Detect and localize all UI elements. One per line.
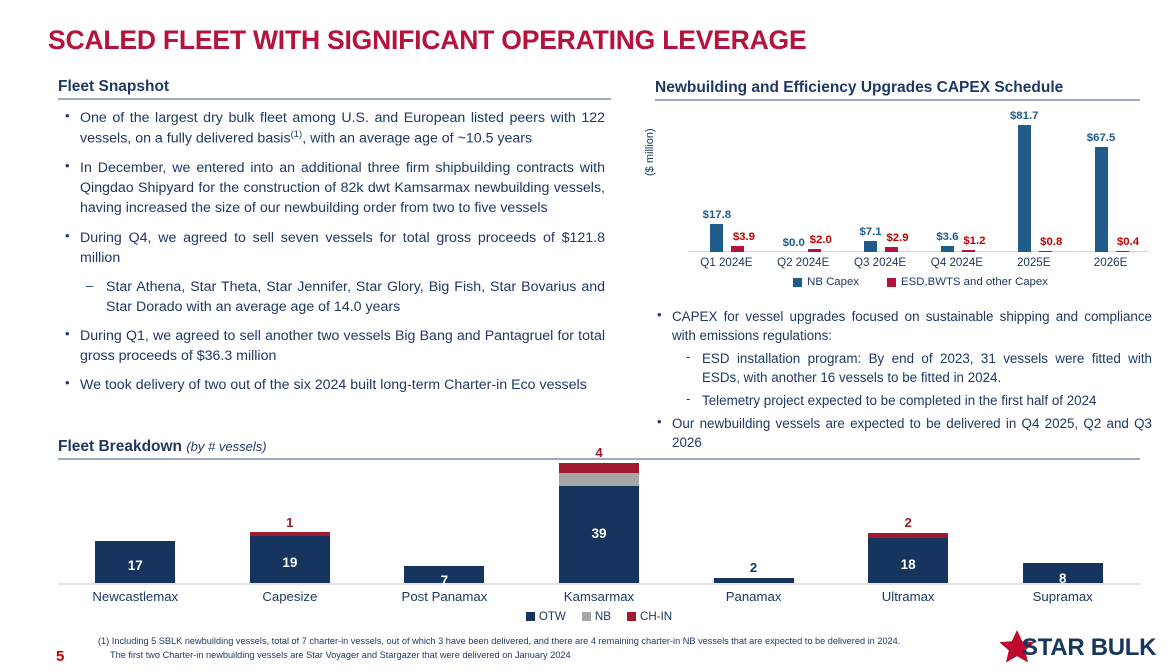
- capex-bar-group: $0.0$2.0: [765, 104, 842, 252]
- capex-nb-value-label: $17.8: [691, 209, 742, 221]
- fleet-segment-value: 17: [95, 558, 175, 573]
- capex-bar-group: $17.8$3.9: [688, 104, 765, 252]
- legend-label: CH-IN: [640, 610, 672, 623]
- fleet-segment-otw: 19: [250, 536, 330, 584]
- capex-esd-value-label: $0.8: [1027, 236, 1076, 248]
- capex-bar-group: $7.1$2.9: [842, 104, 919, 252]
- capex-esd-bar: [1116, 251, 1129, 253]
- fleet-stacked-bar: 8: [1023, 563, 1103, 583]
- bullet-text-tail: , with an average age of ~10.5 years: [302, 131, 532, 147]
- legend-swatch: [793, 278, 802, 287]
- fleet-segment-value: 7: [404, 573, 484, 588]
- logo-wordmark: STAR BULK: [1022, 634, 1156, 662]
- capex-x-tick: Q4 2024E: [919, 256, 996, 269]
- fleet-segment-otw: 17: [95, 541, 175, 584]
- capex-nb-value-label: $81.7: [999, 110, 1050, 122]
- capex-esd-bar: [1039, 251, 1052, 253]
- bullet-text: ESD installation program: By end of 2023…: [702, 351, 1152, 385]
- capex-nb-value-label: $67.5: [1076, 132, 1127, 144]
- fleet-x-tick: Panamax: [676, 589, 831, 604]
- capex-plot-area: $17.8$3.9$0.0$2.0$7.1$2.9$3.6$1.2$81.7$0…: [688, 104, 1149, 252]
- capex-bullets: CAPEX for vessel upgrades focused on sus…: [652, 307, 1152, 456]
- legend-label: NB Capex: [807, 276, 859, 288]
- bullet-text: We took delivery of two out of the six 2…: [80, 377, 587, 393]
- bullet-item: During Q1, we agreed to sell another two…: [60, 326, 605, 366]
- fleet-segment-nb: [559, 473, 639, 486]
- footnote-marker: (1): [291, 129, 303, 140]
- fleet-segment-otw: 18: [868, 538, 948, 583]
- fleet-stacked-bar: 18: [868, 533, 948, 583]
- fleet-top-value-label: 2: [676, 560, 831, 575]
- bullet-item: We took delivery of two out of the six 2…: [60, 375, 605, 395]
- fleet-stacked-bar: 39: [559, 463, 639, 583]
- legend-label: NB: [595, 610, 611, 623]
- fleet-breakdown-legend: OTWNBCH-IN: [58, 610, 1140, 623]
- fleet-baseline: [58, 583, 1140, 585]
- fleet-segment-otw: 39: [559, 486, 639, 584]
- fleet-bar-group: 191Capesize: [213, 458, 368, 583]
- capex-x-tick: Q2 2024E: [765, 256, 842, 269]
- fleet-x-tick: Capesize: [213, 589, 368, 604]
- fleet-bar-group: 2Panamax: [676, 458, 831, 583]
- capex-nb-bar: [1018, 125, 1031, 252]
- section-divider: [655, 99, 1140, 101]
- legend-label: ESD,BWTS and other Capex: [901, 276, 1048, 288]
- bullet-subitem: ESD installation program: By end of 2023…: [682, 349, 1152, 387]
- legend-item: OTW: [526, 610, 566, 623]
- bullet-text: Star Athena, Star Theta, Star Jennifer, …: [106, 279, 605, 315]
- capex-esd-bar: [731, 246, 744, 252]
- fleet-segment-otw: 7: [404, 566, 484, 584]
- capex-esd-bar: [808, 249, 821, 252]
- fleet-x-tick: Kamsarmax: [522, 589, 677, 604]
- fleet-stacked-bar: 19: [250, 532, 330, 584]
- fleet-stacked-bar: 17: [95, 541, 175, 584]
- bullet-item: During Q4, we agreed to sell seven vesse…: [60, 228, 605, 268]
- capex-esd-bar: [885, 247, 898, 252]
- fleet-x-tick: Post Panamax: [367, 589, 522, 604]
- fleet-breakdown-subheading: (by # vessels): [186, 439, 266, 454]
- fleet-bar-group: 7Post Panamax: [367, 458, 522, 583]
- capex-nb-bar: [941, 246, 954, 252]
- legend-item: NB: [582, 610, 611, 623]
- footnote-line-2: The first two Charter-in newbuilding ves…: [98, 648, 958, 662]
- slide-root: SCALED FLEET WITH SIGNIFICANT OPERATING …: [0, 0, 1167, 672]
- page-number: 5: [56, 648, 64, 665]
- capex-bar-group: $81.7$0.8: [995, 104, 1072, 252]
- capex-esd-bar: [962, 250, 975, 252]
- fleet-segment-value: 39: [559, 526, 639, 541]
- capex-x-tick: Q1 2024E: [688, 256, 765, 269]
- capex-esd-value-label: $1.2: [950, 235, 999, 247]
- capex-chart: ($ million) $17.8$3.9$0.0$2.0$7.1$2.9$3.…: [648, 104, 1153, 299]
- fleet-top-value-label: 1: [213, 515, 368, 530]
- page-title: SCALED FLEET WITH SIGNIFICANT OPERATING …: [48, 25, 806, 56]
- capex-y-axis-label: ($ million): [644, 128, 656, 176]
- fleet-snapshot-heading: Fleet Snapshot: [58, 78, 611, 96]
- legend-swatch: [582, 612, 591, 621]
- fleet-segment-chin: [559, 463, 639, 473]
- fleet-x-tick: Supramax: [985, 589, 1140, 604]
- bullet-subitem: Star Athena, Star Theta, Star Jennifer, …: [84, 277, 605, 317]
- bullet-text: During Q1, we agreed to sell another two…: [80, 328, 605, 364]
- fleet-stacked-bar: 7: [404, 566, 484, 584]
- fleet-bar-group: 17Newcastlemax: [58, 458, 213, 583]
- fleet-segment-otw: 8: [1023, 563, 1103, 583]
- section-divider: [58, 98, 611, 100]
- star-bulk-logo: STAR BULK: [998, 630, 1148, 664]
- capex-x-tick: 2025E: [995, 256, 1072, 269]
- footnote: (1) Including 5 SBLK newbuilding vessels…: [98, 634, 958, 663]
- fleet-x-tick: Newcastlemax: [58, 589, 213, 604]
- fleet-bar-group: 8Supramax: [985, 458, 1140, 583]
- capex-legend: NB CapexESD,BWTS and other Capex: [688, 276, 1153, 288]
- capex-heading: Newbuilding and Efficiency Upgrades CAPE…: [655, 79, 1140, 97]
- capex-esd-value-label: $0.4: [1104, 236, 1153, 248]
- capex-x-tick: 2026E: [1072, 256, 1149, 269]
- capex-bar-group: $3.6$1.2: [919, 104, 996, 252]
- capex-esd-value-label: $2.9: [873, 232, 922, 244]
- fleet-top-value-label: 4: [522, 445, 677, 460]
- fleet-segment-value: 8: [1023, 571, 1103, 586]
- legend-label: OTW: [539, 610, 566, 623]
- bullet-item: CAPEX for vessel upgrades focused on sus…: [652, 307, 1152, 345]
- fleet-snapshot-heading-text: Fleet Snapshot: [58, 78, 169, 95]
- fleet-bar-group: 182Ultramax: [831, 458, 986, 583]
- fleet-snapshot-bullets: One of the largest dry bulk fleet among …: [60, 108, 605, 405]
- fleet-segment-otw: [714, 578, 794, 583]
- legend-swatch: [627, 612, 636, 621]
- fleet-segment-value: 19: [250, 555, 330, 570]
- bullet-text: Telemetry project expected to be complet…: [702, 393, 1097, 408]
- legend-item: CH-IN: [627, 610, 672, 623]
- footnote-line-1: (1) Including 5 SBLK newbuilding vessels…: [98, 636, 900, 646]
- fleet-breakdown-chart: OTWNBCH-IN 17Newcastlemax191Capesize7Pos…: [58, 458, 1140, 613]
- legend-swatch: [887, 278, 896, 287]
- fleet-top-value-label: 2: [831, 515, 986, 530]
- capex-heading-text: Newbuilding and Efficiency Upgrades CAPE…: [655, 79, 1063, 96]
- capex-esd-value-label: $2.0: [796, 234, 845, 246]
- capex-x-tick: Q3 2024E: [842, 256, 919, 269]
- bullet-text: CAPEX for vessel upgrades focused on sus…: [672, 309, 1152, 343]
- legend-item: NB Capex: [793, 276, 859, 288]
- fleet-stacked-bar: [714, 578, 794, 583]
- capex-bar-group: $67.5$0.4: [1072, 104, 1149, 252]
- fleet-segment-value: 18: [868, 557, 948, 572]
- fleet-bar-group: 394Kamsarmax: [522, 458, 677, 583]
- bullet-text: During Q4, we agreed to sell seven vesse…: [80, 230, 605, 266]
- capex-esd-value-label: $3.9: [719, 231, 768, 243]
- bullet-text: In December, we entered into an addition…: [80, 160, 605, 216]
- bullet-item: In December, we entered into an addition…: [60, 158, 605, 218]
- legend-item: ESD,BWTS and other Capex: [887, 276, 1048, 288]
- legend-swatch: [526, 612, 535, 621]
- bullet-subitem: Telemetry project expected to be complet…: [682, 391, 1152, 410]
- fleet-x-tick: Ultramax: [831, 589, 986, 604]
- bullet-item: One of the largest dry bulk fleet among …: [60, 108, 605, 149]
- fleet-breakdown-heading-text: Fleet Breakdown: [58, 438, 182, 455]
